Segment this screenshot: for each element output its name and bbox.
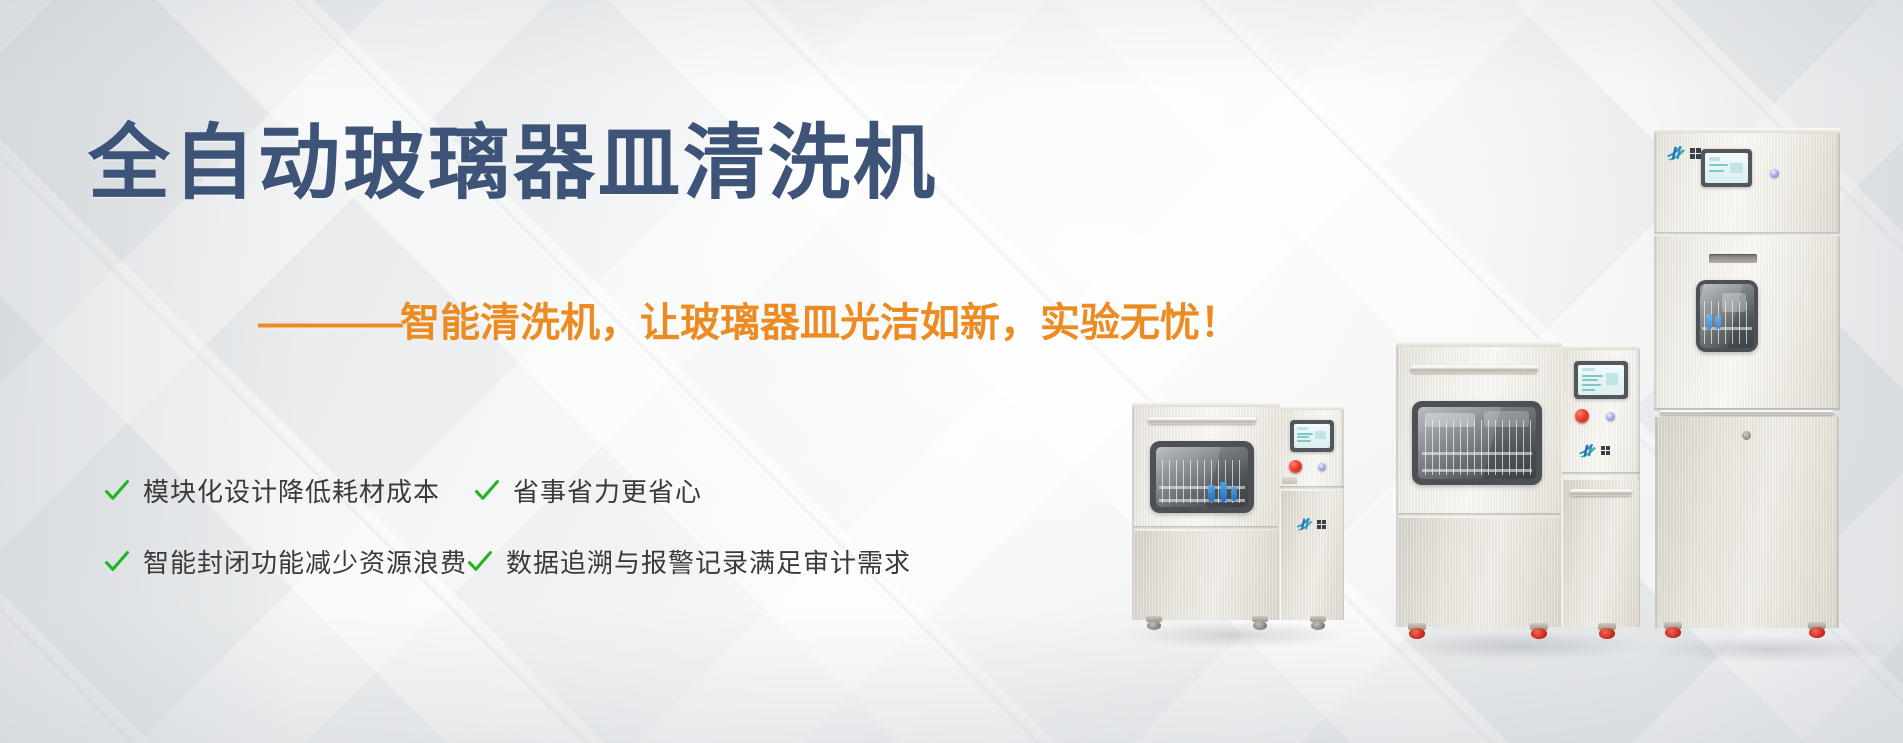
brand-logo — [1578, 443, 1610, 458]
label-plate — [1282, 477, 1297, 484]
viewing-window — [1150, 441, 1254, 513]
emergency-stop-button[interactable] — [1575, 409, 1589, 423]
logo-wordmark — [1601, 446, 1610, 455]
product-shadow — [1650, 636, 1890, 662]
touchscreen-display[interactable] — [1294, 424, 1330, 448]
blue-glassware-item — [1220, 482, 1227, 502]
service-door — [1281, 491, 1343, 620]
caster-wheel — [1598, 623, 1616, 639]
panel-seam — [1562, 472, 1640, 476]
touchscreen-display[interactable] — [1578, 365, 1624, 395]
caster-wheel — [1252, 616, 1268, 630]
cabinet-top-cap — [1396, 341, 1562, 347]
indicator-light[interactable] — [1606, 412, 1615, 421]
logo-h-mark-icon — [1666, 145, 1688, 161]
panel-seam — [1398, 513, 1560, 517]
brand-logo — [1296, 517, 1326, 531]
lower-access-panel — [1134, 531, 1278, 620]
product-banner: 全自动玻璃器皿清洗机 ————智能清洗机，让玻璃器皿光洁如新，实验无忧！ 模块化… — [0, 0, 1903, 743]
touchscreen-panel[interactable] — [1290, 420, 1334, 452]
cabinet-top-cap — [1132, 402, 1280, 407]
caster-wheel — [1146, 616, 1162, 630]
vent-slot — [1709, 254, 1757, 263]
logo-h-mark-icon — [1296, 517, 1315, 531]
touchscreen-display[interactable] — [1705, 153, 1748, 183]
touchscreen-panel[interactable] — [1701, 149, 1752, 187]
logo-wordmark — [1317, 520, 1326, 529]
control-tower-top-cap — [1562, 345, 1640, 350]
viewing-window — [1696, 280, 1758, 352]
cabinet-top-cap — [1654, 128, 1840, 133]
logo-h-mark-icon — [1578, 443, 1599, 458]
touchscreen-panel[interactable] — [1574, 361, 1628, 399]
lower-drawer — [1563, 480, 1639, 627]
lower-access-panel — [1655, 417, 1839, 628]
emergency-stop-button[interactable] — [1289, 460, 1302, 473]
door-handle — [1148, 417, 1256, 424]
product-image-tall-column-glassware-washer — [1654, 128, 1888, 636]
panel-seam — [1134, 526, 1278, 530]
window-glass — [1418, 407, 1536, 479]
caster-wheel — [1408, 623, 1426, 639]
logo-wordmark — [1690, 148, 1701, 159]
lower-access-panel — [1398, 518, 1560, 627]
product-image-freestanding-glassware-washer — [1396, 335, 1640, 633]
product-image-group — [0, 0, 1903, 743]
caster-wheel — [1664, 622, 1682, 638]
window-glass — [1700, 284, 1754, 348]
window-glass — [1156, 447, 1248, 507]
control-tower-top-cap — [1280, 406, 1344, 410]
panel-seam — [1280, 486, 1344, 490]
viewing-window — [1412, 401, 1542, 485]
lower-drawer-handle — [1570, 489, 1632, 496]
brand-logo — [1666, 145, 1701, 161]
door-handle — [1660, 410, 1834, 415]
caster-wheel — [1808, 622, 1826, 638]
indicator-light[interactable] — [1770, 169, 1779, 178]
caster-wheel — [1310, 616, 1326, 630]
caster-wheel — [1530, 623, 1548, 639]
product-image-benchtop-glassware-washer — [1132, 398, 1344, 628]
door-handle — [1410, 365, 1538, 373]
blue-glassware-item — [1231, 487, 1237, 501]
keyhole-latch[interactable] — [1742, 431, 1751, 440]
indicator-light[interactable] — [1318, 463, 1326, 471]
